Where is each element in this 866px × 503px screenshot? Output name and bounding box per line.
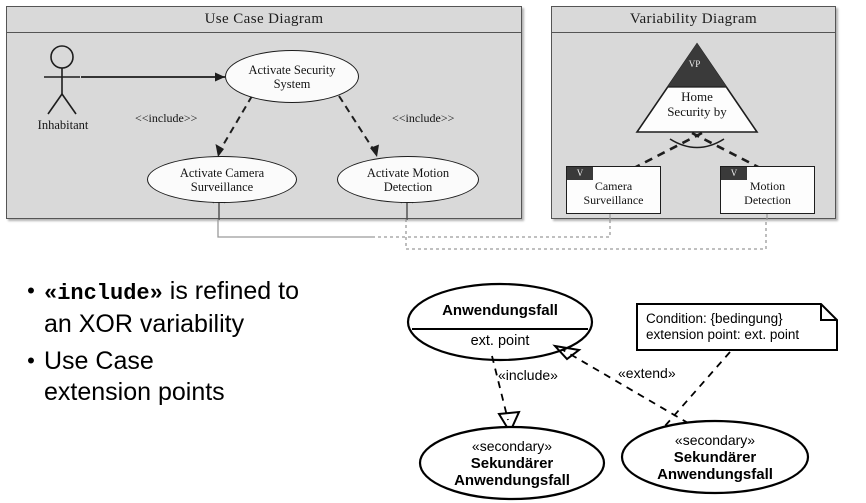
trace-line-camera-vertical [218, 219, 372, 237]
variability-diagram-panel: Variability Diagram VP Home Security by [551, 6, 836, 219]
include-label-right: <<include>> [392, 111, 454, 126]
variant-camera-surveillance-line1: Camera [595, 180, 632, 194]
use-case-secondary-right-label: «secondary» Sekundärer Anwendungsfall [623, 432, 807, 483]
variation-point-line2: Security by [637, 105, 757, 120]
use-case-diagram-panel: Use Case Diagram [6, 6, 522, 219]
association-actor-to-main [81, 73, 225, 82]
actor-label-inhabitant: Inhabitant [23, 118, 103, 133]
variant-motion-detection-tag: V [721, 167, 747, 180]
bullet-item-1: • «include» is refined to an XOR variabi… [18, 276, 418, 340]
variant-links [630, 133, 764, 170]
bullet-list: • «include» is refined to an XOR variabi… [18, 276, 418, 414]
bullet-item-2-text: Use Case extension points [44, 346, 225, 408]
uml-extension-diagram: Anwendungsfall ext. point Condition: {be… [400, 280, 866, 503]
variability-diagram-body: VP Home Security by V Camera Surveillanc… [552, 32, 835, 218]
use-case-activate-camera-surveillance-line1: Activate Camera [180, 166, 264, 180]
variability-diagram-title: Variability Diagram [552, 7, 835, 33]
extend-dependency [563, 350, 700, 430]
include-arrow-right [370, 145, 379, 158]
use-case-secondary-right-stereotype: «secondary» [623, 432, 807, 449]
note-box-text: Condition: {bedingung} extension point: … [646, 311, 799, 343]
use-case-diagram-title: Use Case Diagram [7, 7, 521, 33]
note-box-line2: extension point: ext. point [646, 327, 799, 343]
use-case-activate-motion-detection-line2: Detection [384, 180, 433, 194]
bullet-item-1-text: «include» is refined to an XOR variabili… [44, 276, 299, 340]
use-case-activate-motion-detection[interactable]: Activate Motion Detection [337, 156, 479, 203]
use-case-activate-camera-surveillance-line2: Surveillance [191, 180, 253, 194]
variation-point-line1: Home [637, 90, 757, 105]
bullet-item-2: • Use Case extension points [18, 346, 418, 408]
xor-constraint-arc [670, 139, 724, 148]
variant-motion-detection-line1: Motion [750, 180, 785, 194]
trace-connectors [0, 200, 866, 260]
use-case-secondary-left-stereotype: «secondary» [420, 438, 604, 455]
include-dependency [492, 356, 508, 420]
use-case-secondary-left-line2: Anwendungsfall [420, 472, 604, 489]
note-box-line1: Condition: {bedingung} [646, 311, 799, 327]
include-stereotype-label: «include» [498, 367, 558, 383]
bullet-dot-icon: • [18, 346, 44, 376]
bullet-item-1-rest: is refined to [163, 277, 299, 305]
bullet-item-1-line2: an XOR variability [44, 309, 299, 340]
bullet-dot-icon: • [18, 276, 44, 306]
bullet-item-2-rest: Use Case [44, 346, 225, 377]
use-case-activate-security-system-line2: System [274, 77, 311, 91]
use-case-activate-security-system[interactable]: Activate Security System [225, 50, 359, 103]
include-dependency-left [219, 96, 252, 152]
use-case-anwendungsfall-extension-point: ext. point [408, 333, 592, 349]
use-case-secondary-right-line2: Anwendungsfall [623, 466, 807, 483]
actor-inhabitant-icon [44, 46, 80, 114]
bullet-item-1-mono: «include» [44, 281, 163, 306]
use-case-secondary-left-label: «secondary» Sekundärer Anwendungsfall [420, 438, 604, 489]
trace-line-motion-dotted [406, 219, 766, 249]
use-case-anwendungsfall-name: Anwendungsfall [408, 302, 592, 319]
include-dependency-right [339, 96, 375, 152]
use-case-activate-security-system-line1: Activate Security [248, 63, 335, 77]
variation-point-tag: VP [552, 59, 837, 69]
use-case-activate-camera-surveillance[interactable]: Activate Camera Surveillance [147, 156, 297, 203]
bullet-item-2-line2: extension points [44, 377, 225, 408]
variation-point-label: Home Security by [637, 90, 757, 120]
variant-camera-surveillance-tag: V [567, 167, 593, 180]
include-label-left: <<include>> [135, 111, 197, 126]
use-case-secondary-left-line1: Sekundärer [420, 455, 604, 472]
extend-stereotype-label: «extend» [618, 365, 676, 381]
use-case-activate-motion-detection-line1: Activate Motion [367, 166, 449, 180]
use-case-diagram-body: Inhabitant Activate Security System <<in… [7, 32, 521, 218]
trace-line-camera-dotted [372, 219, 610, 237]
use-case-secondary-right-line1: Sekundärer [623, 449, 807, 466]
